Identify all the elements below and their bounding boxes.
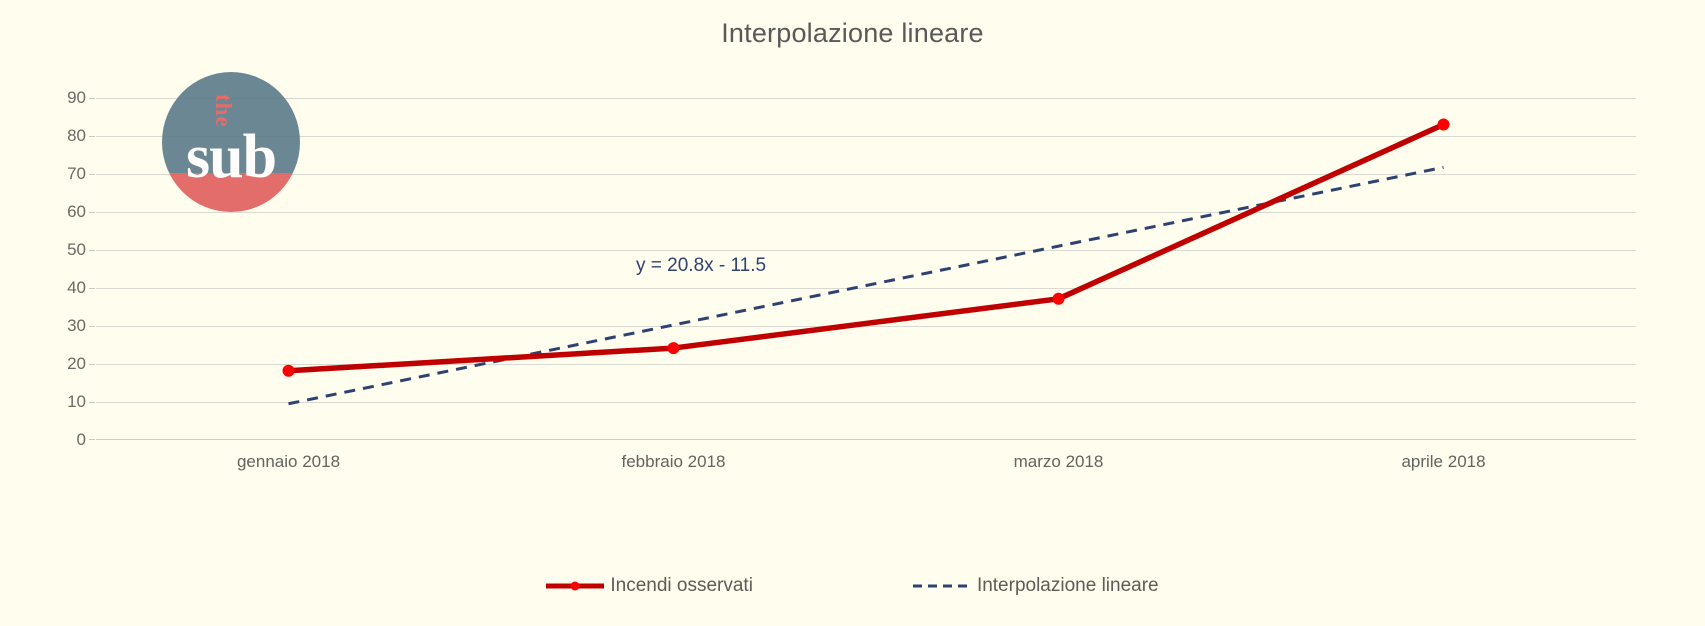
y-tick-label: 0 — [0, 430, 86, 450]
tick-mark — [89, 439, 95, 440]
y-tick-label: 80 — [0, 126, 86, 146]
y-tick-label: 90 — [0, 88, 86, 108]
x-tick-label: gennaio 2018 — [237, 452, 340, 472]
x-axis-line — [96, 439, 1636, 440]
tick-mark — [89, 98, 95, 99]
x-tick-label: febbraio 2018 — [622, 452, 726, 472]
chart-title: Interpolazione lineare — [0, 18, 1705, 49]
legend-item-trendline[interactable]: Interpolazione lineare — [913, 575, 1159, 597]
x-tick-label: marzo 2018 — [1014, 452, 1104, 472]
y-tick-label: 40 — [0, 278, 86, 298]
y-tick-label: 30 — [0, 316, 86, 336]
legend-label: Incendi osservati — [610, 575, 753, 597]
tick-mark — [89, 326, 95, 327]
y-axis-labels: 90 80 70 60 50 40 30 20 10 0 — [0, 0, 86, 626]
y-tick-label: 70 — [0, 164, 86, 184]
y-tick-label: 50 — [0, 240, 86, 260]
data-point-marker — [1438, 119, 1450, 131]
observed-series-markers — [283, 119, 1450, 377]
the-sub-logo-watermark: the sub — [162, 72, 300, 212]
logo-sub-text: sub — [162, 126, 300, 188]
observed-series-path — [289, 125, 1444, 371]
chart-container: Interpolazione lineare 90 80 70 60 50 40… — [0, 0, 1705, 626]
legend-swatch-dashed-line-icon — [913, 579, 971, 593]
data-point-marker — [283, 365, 295, 377]
legend-item-observed[interactable]: Incendi osservati — [546, 575, 753, 597]
tick-mark — [89, 288, 95, 289]
legend-label: Interpolazione lineare — [977, 575, 1159, 597]
y-tick-label: 10 — [0, 392, 86, 412]
data-point-marker — [1053, 293, 1065, 305]
tick-mark — [89, 250, 95, 251]
tick-mark — [89, 364, 95, 365]
plot-area — [96, 98, 1636, 439]
y-tick-label: 20 — [0, 354, 86, 374]
series-plot — [96, 98, 1636, 439]
y-tick-label: 60 — [0, 202, 86, 222]
x-axis-labels: gennaio 2018 febbraio 2018 marzo 2018 ap… — [96, 452, 1636, 482]
tick-mark — [89, 174, 95, 175]
chart-legend: Incendi osservati Interpolazione lineare — [0, 575, 1705, 597]
tick-mark — [89, 212, 95, 213]
tick-mark — [89, 136, 95, 137]
x-tick-label: aprile 2018 — [1401, 452, 1485, 472]
data-point-marker — [668, 342, 680, 354]
legend-swatch-solid-line-icon — [546, 579, 604, 593]
trendline-equation-label: y = 20.8x - 11.5 — [636, 255, 766, 277]
tick-mark — [89, 402, 95, 403]
